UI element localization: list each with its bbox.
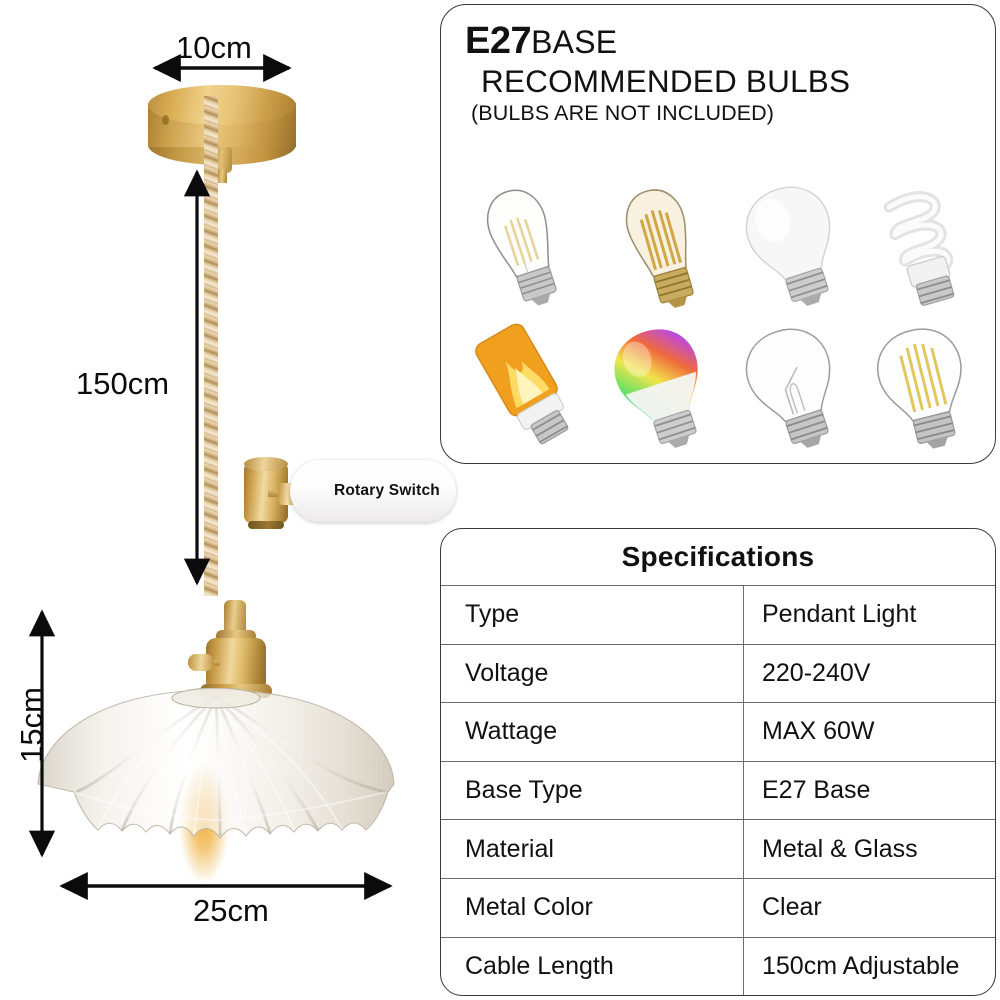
product-infographic: Rotary Switch	[0, 0, 1000, 1000]
spec-value: Clear	[744, 878, 996, 937]
table-row: Metal ColorClear	[441, 878, 995, 937]
rgb-smart-bulb-icon	[595, 317, 730, 457]
spec-value: E27 Base	[744, 761, 996, 820]
table-row: Base TypeE27 Base	[441, 761, 995, 820]
flame-effect-bulb-icon	[457, 317, 592, 457]
base-text: BASE	[531, 24, 617, 60]
specifications-table: TypePendant LightVoltage220-240VWattageM…	[441, 585, 995, 996]
dimension-label-canopy-width: 10cm	[176, 30, 252, 66]
table-row: MaterialMetal & Glass	[441, 820, 995, 879]
specifications-card: Specifications TypePendant LightVoltage2…	[440, 528, 996, 996]
dimension-label-shade-height: 15cm	[14, 687, 50, 763]
spec-key: Material	[441, 820, 744, 879]
spec-value: 220-240V	[744, 644, 996, 703]
frosted-led-a-bulb-icon	[727, 175, 862, 315]
bulbs-heading-line-1: E27BASE	[465, 21, 985, 62]
spec-key: Wattage	[441, 703, 744, 762]
spec-value: 150cm Adjustable	[744, 937, 996, 996]
cfl-spiral-bulb-icon	[857, 175, 992, 315]
table-row: Cable Length150cm Adjustable	[441, 937, 995, 996]
spec-key: Type	[441, 586, 744, 645]
e27-strong-text: E27	[465, 20, 531, 62]
spec-value: Pendant Light	[744, 586, 996, 645]
specifications-title: Specifications	[441, 529, 995, 585]
dimension-label-cable-length: 150cm	[76, 366, 169, 402]
recommended-bulbs-card: E27BASE RECOMMENDED BULBS (BULBS ARE NOT…	[440, 4, 996, 464]
bulbs-heading-line-2: RECOMMENDED BULBS	[481, 62, 985, 100]
bulb-grid	[449, 175, 989, 455]
spec-key: Cable Length	[441, 937, 744, 996]
clear-led-filament-a60-bulb-icon	[857, 317, 992, 457]
table-row: Voltage220-240V	[441, 644, 995, 703]
dimension-arrows	[0, 0, 440, 1000]
spec-value: Metal & Glass	[744, 820, 996, 879]
dimension-label-shade-diameter: 25cm	[193, 893, 269, 929]
edison-st64-amber-filament-bulb-icon	[595, 175, 730, 315]
spec-key: Base Type	[441, 761, 744, 820]
bulbs-heading: E27BASE RECOMMENDED BULBS (BULBS ARE NOT…	[465, 21, 985, 127]
product-diagram-panel: Rotary Switch	[0, 0, 440, 1000]
spec-key: Metal Color	[441, 878, 744, 937]
edison-st64-clear-filament-bulb-icon	[457, 175, 592, 315]
table-row: WattageMAX 60W	[441, 703, 995, 762]
clear-incandescent-bulb-icon	[727, 317, 862, 457]
table-row: TypePendant Light	[441, 586, 995, 645]
bulbs-heading-line-3: (BULBS ARE NOT INCLUDED)	[471, 100, 985, 127]
spec-key: Voltage	[441, 644, 744, 703]
spec-value: MAX 60W	[744, 703, 996, 762]
